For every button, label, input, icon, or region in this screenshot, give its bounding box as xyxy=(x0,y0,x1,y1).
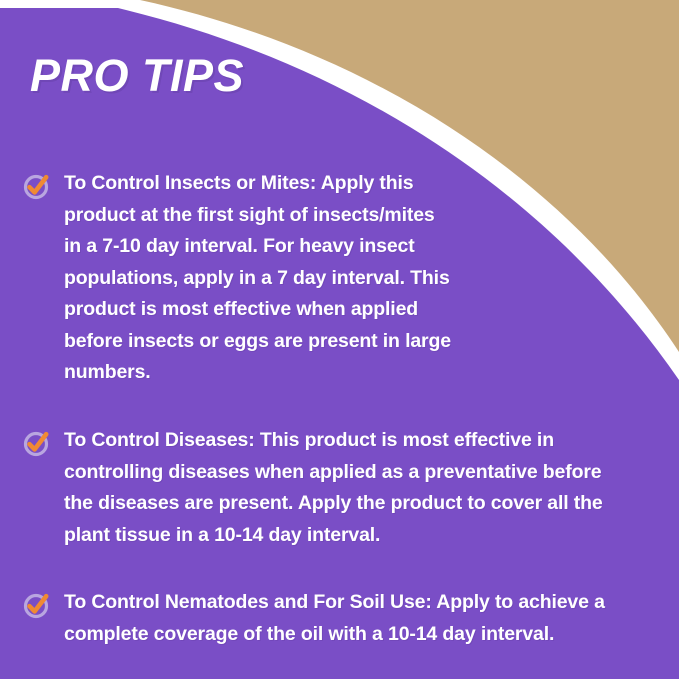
list-item: To Control Diseases: This product is mos… xyxy=(22,425,658,551)
list-item-text: To Control Diseases: This product is mos… xyxy=(64,425,624,551)
check-circle-icon xyxy=(22,590,52,620)
pro-tips-card: PRO TIPS To Control Insects or Mites: Ap… xyxy=(0,0,679,679)
check-circle-icon xyxy=(22,428,52,458)
list-item: To Control Nematodes and For Soil Use: A… xyxy=(22,587,658,650)
list-item: To Control Insects or Mites: Apply this … xyxy=(22,168,658,389)
page-title: PRO TIPS xyxy=(30,52,244,99)
list-item-text: To Control Nematodes and For Soil Use: A… xyxy=(64,587,658,650)
list-item-text: To Control Insects or Mites: Apply this … xyxy=(64,168,456,389)
tips-list: To Control Insects or Mites: Apply this … xyxy=(22,168,658,651)
check-circle-icon xyxy=(22,171,52,201)
